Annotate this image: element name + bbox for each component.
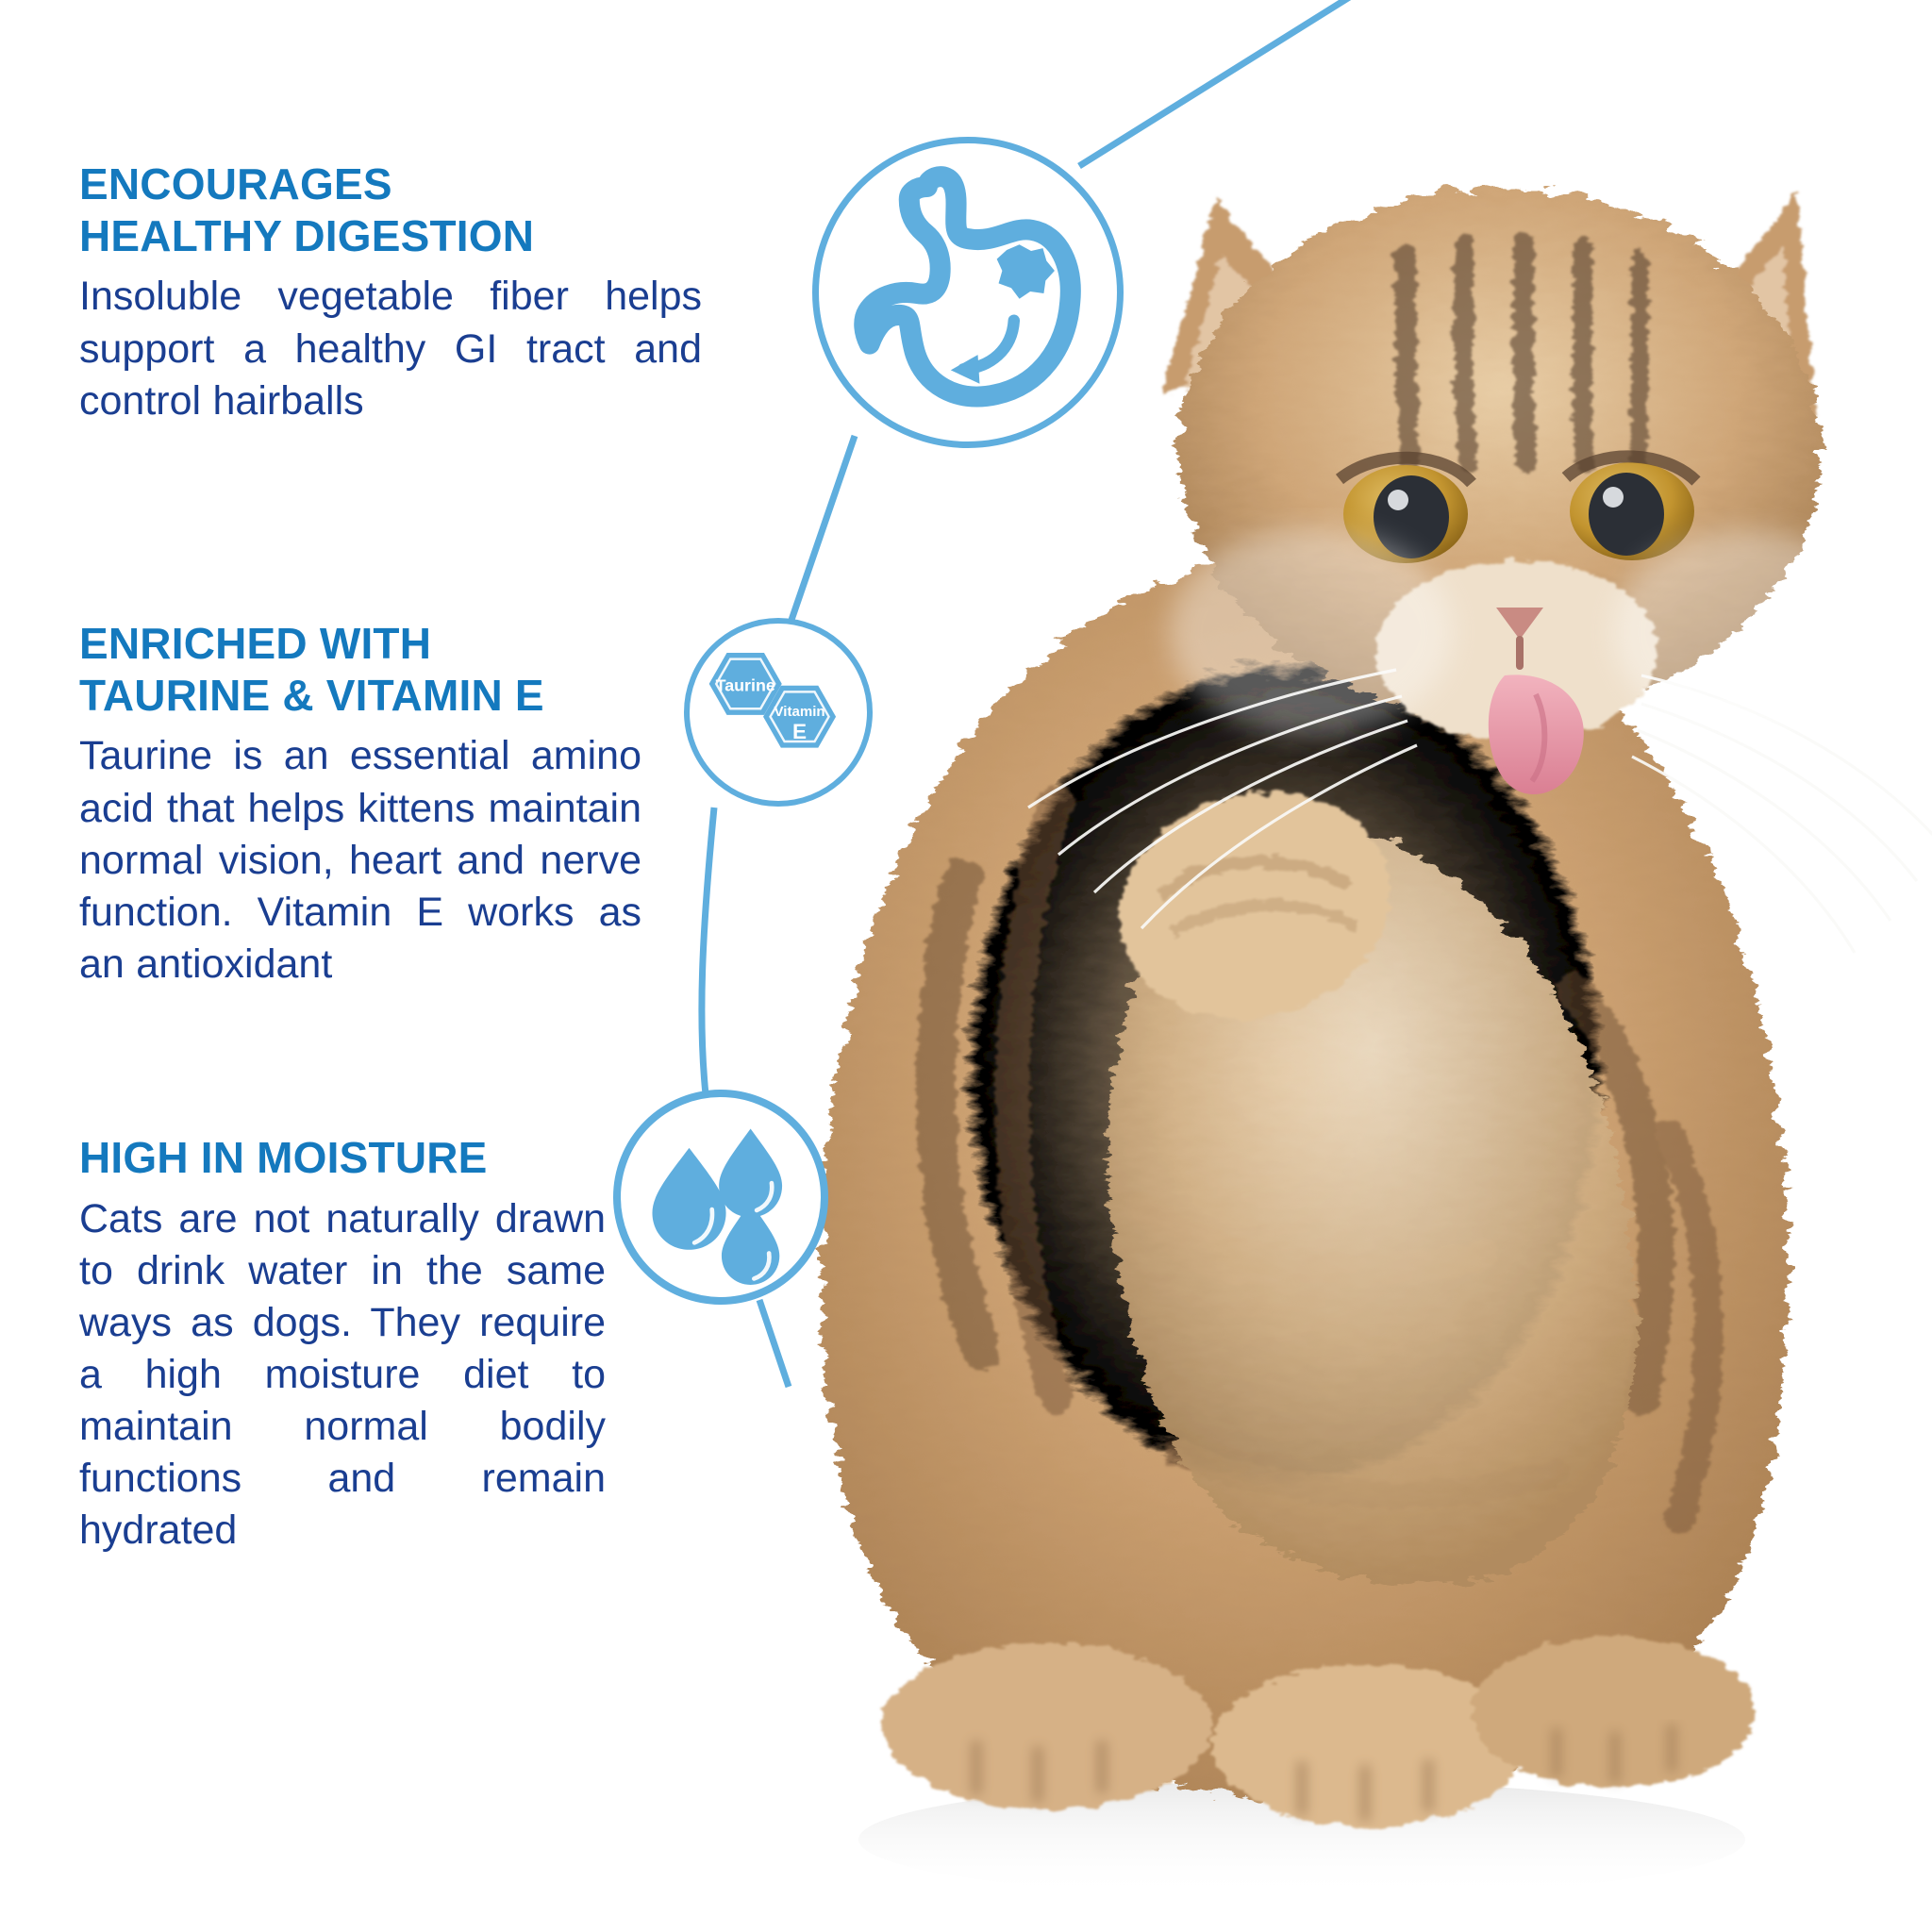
droplet-bottom-icon <box>722 1203 779 1285</box>
feature-title: ENCOURAGES HEALTHY DIGESTION <box>79 158 713 261</box>
feature-body: Cats are not naturally drawn to drink wa… <box>79 1193 606 1557</box>
feature-list: ENCOURAGES HEALTHY DIGESTION Insoluble v… <box>0 0 717 1932</box>
vitamin-e-letter-label: E <box>792 720 807 743</box>
feature-enriched-with-taurine-and-vitamin-e: ENRICHED WITH TAURINE & VITAMIN E Taurin… <box>79 618 655 991</box>
feature-encourages-healthy-digestion: ENCOURAGES HEALTHY DIGESTION Insoluble v… <box>79 158 713 427</box>
feature-title: ENRICHED WITH TAURINE & VITAMIN E <box>79 618 655 721</box>
feature-title: HIGH IN MOISTURE <box>79 1132 617 1184</box>
stomach-particle-icon <box>997 244 1055 298</box>
feature-high-in-moisture: HIGH IN MOISTURE Cats are not naturally … <box>79 1132 617 1557</box>
taurine-label: Taurine <box>716 675 775 694</box>
vitamin-label: Vitamin <box>774 704 825 720</box>
feature-body: Insoluble vegetable fiber helps support … <box>79 271 702 426</box>
stomach-icon-badge <box>812 137 1124 448</box>
infographic-page: Taurine Vitamin E E <box>0 0 1932 1932</box>
feature-body: Taurine is an essential amino acid that … <box>79 730 641 990</box>
